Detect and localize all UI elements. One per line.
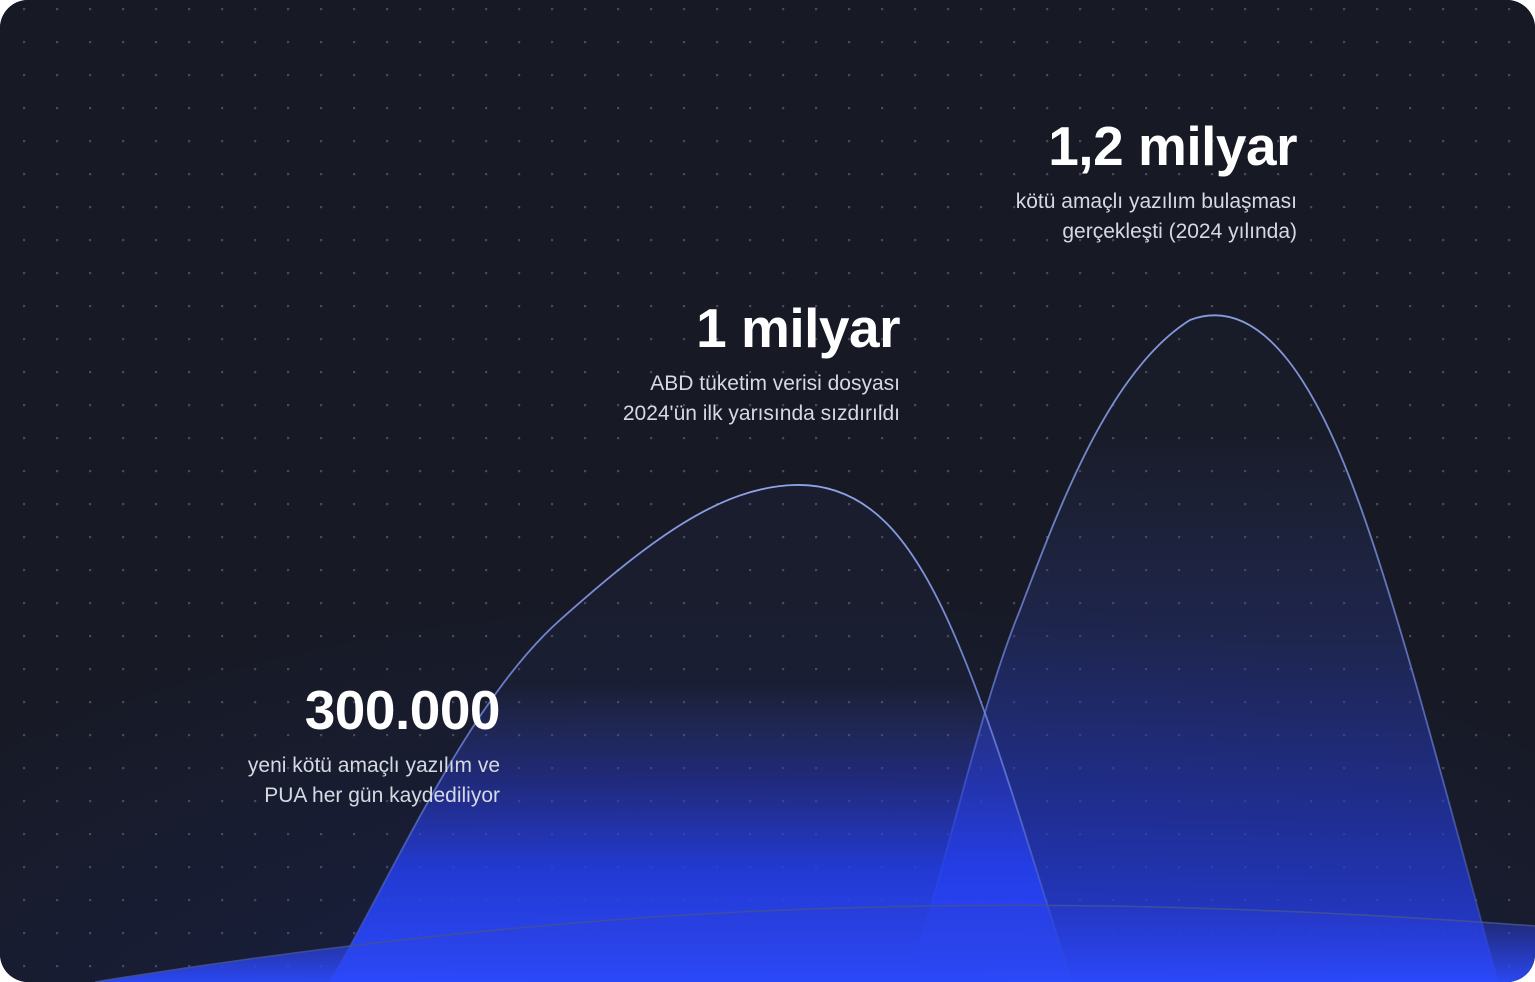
stat-description: kötü amaçlı yazılım bulaşması gerçekleşt… (1016, 187, 1297, 247)
stat-description: yeni kötü amaçlı yazılım ve PUA her gün … (248, 751, 500, 811)
stat-description-line2: gerçekleşti (2024 yılında) (1016, 217, 1297, 247)
stat-description-line2: 2024'ün ilk yarısında sızdırıldı (623, 399, 900, 429)
stat-value: 1 milyar (623, 300, 900, 357)
stat-data-leak: 1 milyar ABD tüketim verisi dosyası 2024… (623, 300, 900, 429)
stat-value: 1,2 milyar (1016, 118, 1297, 175)
stat-description-line1: kötü amaçlı yazılım bulaşması (1016, 187, 1297, 217)
curve-ground-fill (95, 905, 1535, 982)
wave-chart (0, 0, 1535, 982)
stat-description-line1: yeni kötü amaçlı yazılım ve (248, 751, 500, 781)
stat-description: ABD tüketim verisi dosyası 2024'ün ilk y… (623, 369, 900, 429)
stat-description-line1: ABD tüketim verisi dosyası (623, 369, 900, 399)
curve-ground-wave (95, 905, 1535, 982)
stat-description-line2: PUA her gün kaydediliyor (248, 781, 500, 811)
stat-malware-infections: 1,2 milyar kötü amaçlı yazılım bulaşması… (1016, 118, 1297, 247)
stat-daily-malware: 300.000 yeni kötü amaçlı yazılım ve PUA … (248, 682, 500, 811)
infographic-canvas: 1,2 milyar kötü amaçlı yazılım bulaşması… (0, 0, 1535, 982)
stat-value: 300.000 (248, 682, 500, 739)
